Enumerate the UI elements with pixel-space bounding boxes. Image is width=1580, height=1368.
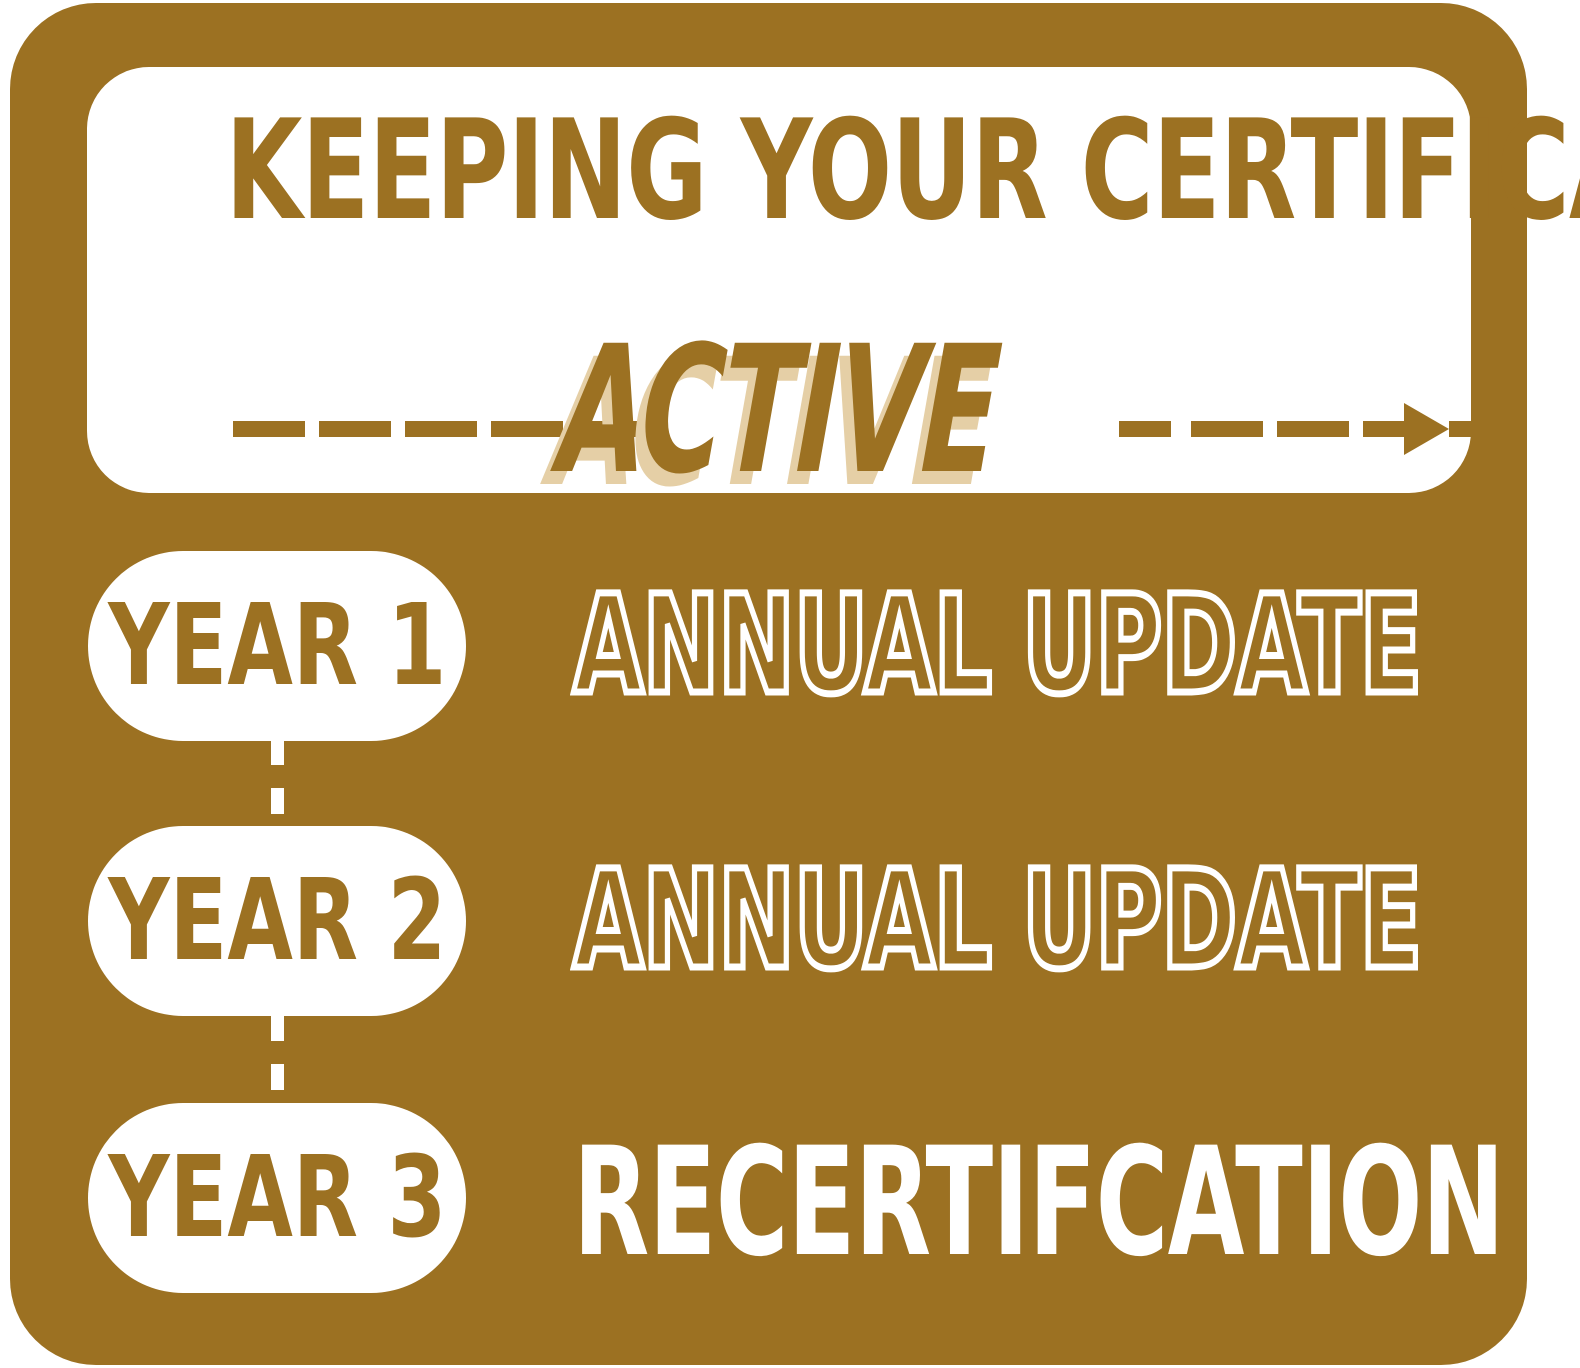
status-badge: ACTIVE [87,317,1471,547]
page-title: KEEPING YOUR CERTIFICATION [225,107,1332,235]
year-pill-1[interactable]: YEAR 1 [88,551,466,741]
timeline-row-year-1: YEAR 1 ANNUAL UPDATE [10,551,1580,747]
infographic-canvas: KEEPING YOUR CERTIFICATION [0,0,1580,1368]
activity-1: ANNUAL UPDATE [573,551,1383,741]
year-pill-2-label: YEAR 2 [108,865,446,977]
timeline-row-year-3: YEAR 3 RECERTIFCATION [10,1103,1580,1299]
year-pill-1-label: YEAR 1 [108,590,446,702]
year-pill-3-label: YEAR 3 [108,1142,446,1254]
header-card: KEEPING YOUR CERTIFICATION [87,67,1471,493]
status-word-text: ACTIVE [556,323,1002,499]
year-pill-3[interactable]: YEAR 3 [88,1103,466,1293]
activity-3: RECERTIFCATION [573,1103,1383,1303]
timeline: YEAR 1 ANNUAL UPDATE YEAR 2 ANNUAL UPDAT… [10,551,1580,1311]
vertical-dashed-connector-icon-2 [271,1015,284,1107]
activity-3-label: RECERTIFCATION [573,1128,1504,1278]
status-word: ACTIVE [476,323,1083,499]
activity-2-label: ANNUAL UPDATE [573,853,1421,989]
year-pill-2[interactable]: YEAR 2 [88,826,466,1016]
activity-1-label: ANNUAL UPDATE [573,578,1421,714]
vertical-dashed-connector-icon-1 [271,739,284,831]
timeline-row-year-2: YEAR 2 ANNUAL UPDATE [10,826,1580,1022]
activity-2: ANNUAL UPDATE [573,826,1383,1016]
brown-panel: KEEPING YOUR CERTIFICATION [10,3,1527,1365]
status-arrow-row: ACTIVE [87,317,1471,547]
